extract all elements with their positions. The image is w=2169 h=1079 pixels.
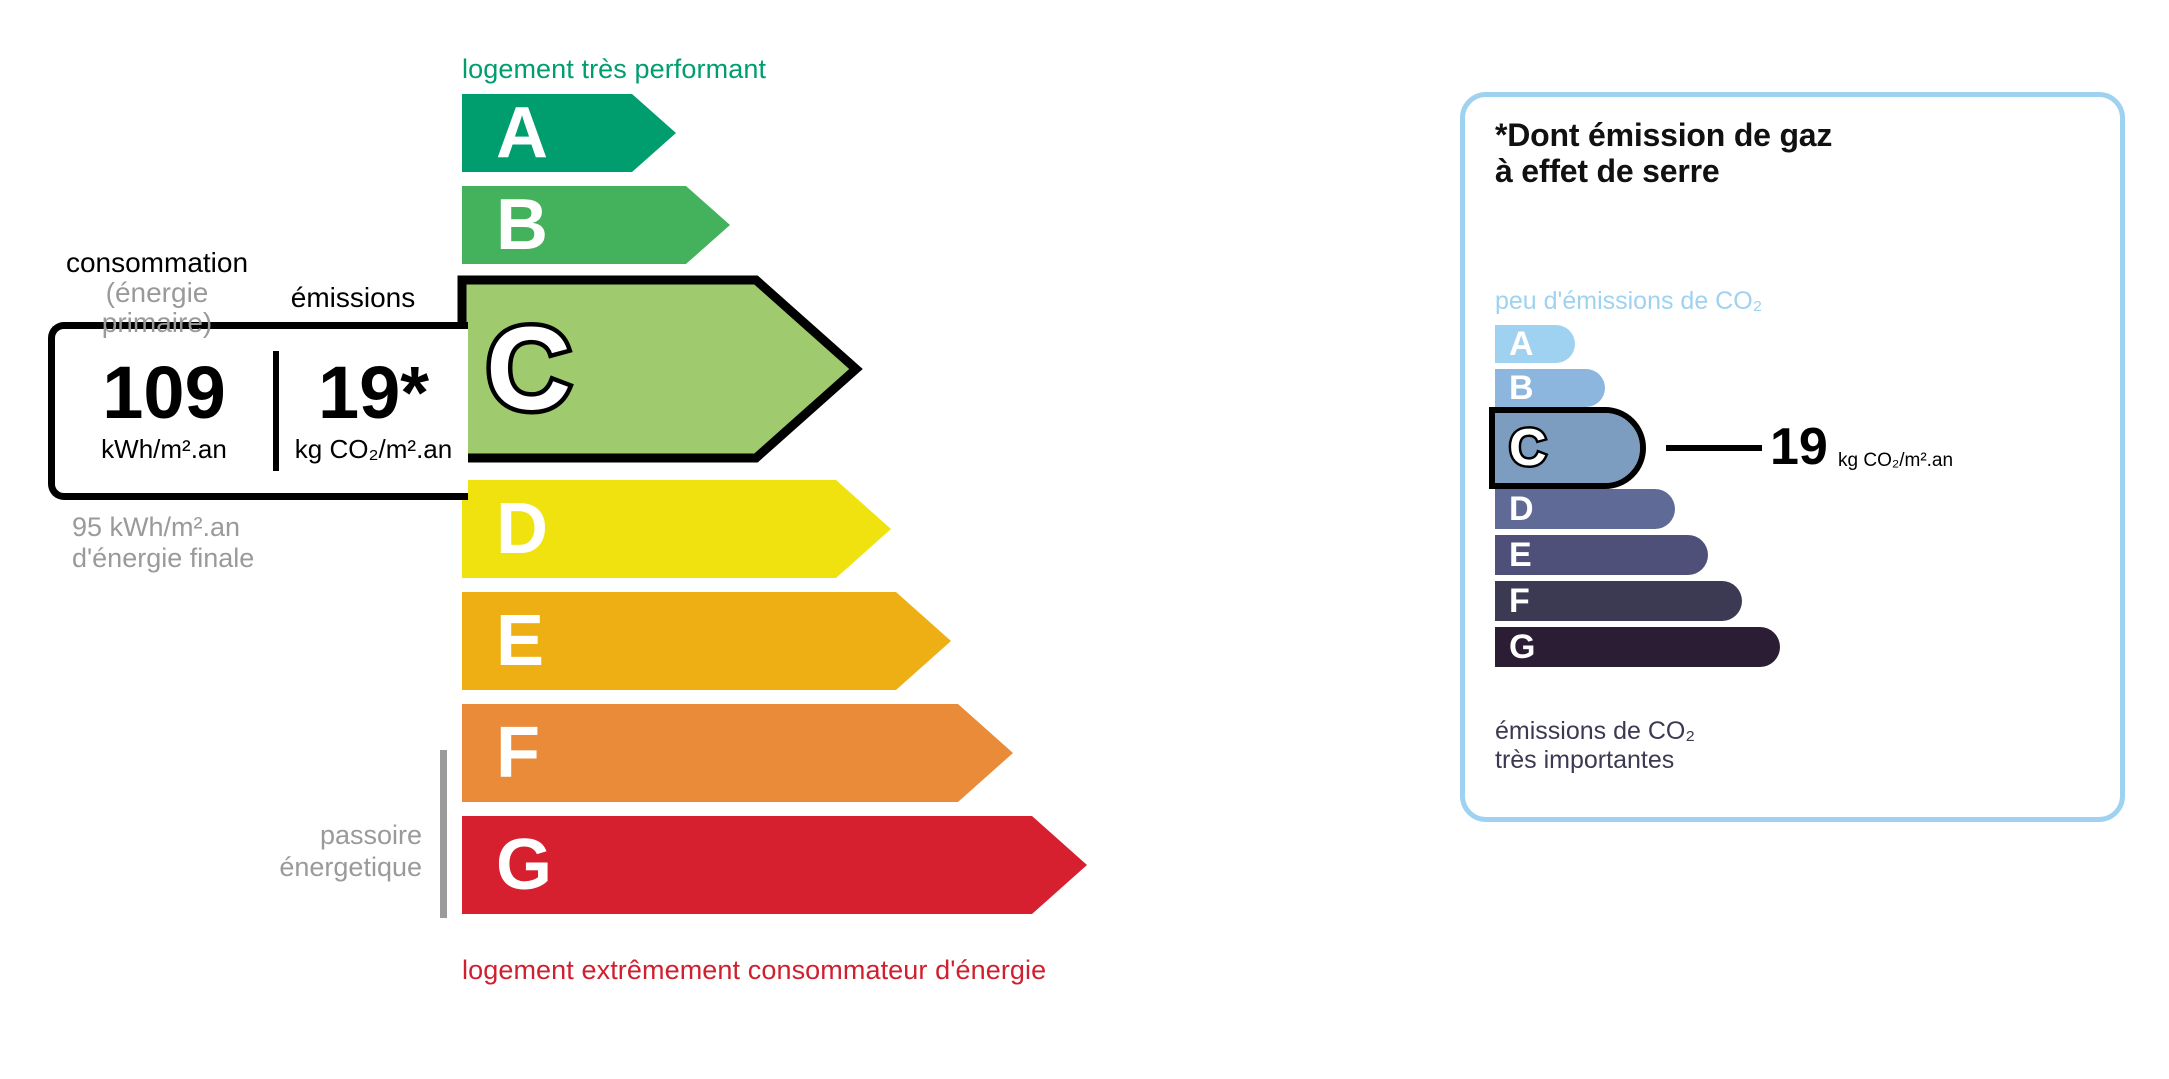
consumption-value: 109 [102, 357, 225, 428]
co2-bottom-line2: très importantes [1495, 746, 1674, 774]
consumption-header-sub: (énergie primaire) [48, 278, 266, 338]
co2-leader-line [1666, 445, 1762, 451]
energy-class-letter-d: D [496, 493, 548, 565]
co2-unit: kg CO₂/m².an [1838, 450, 1953, 472]
co2-class-letter-d: D [1509, 492, 1534, 526]
co2-title-line1: *Dont émission de gaz [1495, 117, 1832, 153]
passoire-line1: passoire [320, 820, 422, 850]
co2-panel: *Dont émission de gaz à effet de serre p… [1460, 92, 2125, 822]
co2-class-letter-a: A [1509, 327, 1534, 361]
co2-class-c: C [1495, 413, 1640, 483]
co2-class-f: F [1495, 581, 1742, 621]
passoire-label: passoire énergetique [210, 820, 422, 884]
energy-class-letter-b: B [496, 189, 548, 261]
co2-class-e: E [1495, 535, 1708, 575]
co2-value: 19 [1770, 421, 1828, 473]
co2-class-letter-g: G [1509, 630, 1535, 664]
energy-class-g: G [462, 816, 1087, 914]
consumption-unit: kWh/m².an [101, 434, 227, 465]
final-energy-note: 95 kWh/m².an d'énergie finale [72, 512, 402, 575]
energy-class-letter-a: A [496, 97, 548, 169]
co2-class-d: D [1495, 489, 1675, 529]
energy-class-letter-e: E [496, 605, 544, 677]
emission-unit: kg CO₂/m².an [295, 434, 452, 465]
consumption-header: consommation (énergie primaire) [48, 248, 266, 339]
co2-bar-f [1495, 581, 1742, 621]
energy-bottom-caption: logement extrêmement consommateur d'éner… [462, 955, 1046, 986]
emission-value-cell: 19* kg CO₂/m².an [279, 329, 468, 493]
energy-arrow-shape-a [455, 87, 683, 179]
co2-bottom-caption: émissions de CO₂ très importantes [1495, 717, 1695, 774]
co2-panel-title: *Dont émission de gaz à effet de serre [1495, 117, 1832, 190]
co2-class-g: G [1495, 627, 1780, 667]
co2-class-letter-e: E [1509, 538, 1532, 572]
co2-class-b: B [1495, 369, 1605, 407]
energy-scale-panel: logement très performant ABCDEFG 109 kWh… [0, 0, 1380, 1079]
co2-class-letter-b: B [1509, 371, 1534, 405]
energy-class-f: F [462, 704, 1013, 802]
consumption-value-cell: 109 kWh/m².an [55, 329, 273, 493]
emission-value: 19* [318, 357, 429, 428]
co2-title-line2: à effet de serre [1495, 153, 1719, 189]
co2-bar-a [1495, 325, 1575, 363]
energy-top-caption: logement très performant [462, 54, 766, 85]
energy-value-box: 109 kWh/m².an 19* kg CO₂/m².an [48, 322, 468, 500]
energy-class-d: D [462, 480, 891, 578]
consumption-header-main: consommation [66, 247, 248, 278]
energy-class-letter-g: G [496, 829, 552, 901]
energy-class-letter-c: C [486, 310, 571, 428]
energy-class-c: C [462, 280, 856, 458]
energy-class-a: A [462, 94, 676, 172]
final-energy-value: 95 kWh/m².an [72, 512, 240, 542]
passoire-line2: énergetique [279, 852, 422, 882]
co2-class-a: A [1495, 325, 1575, 363]
co2-bottom-line1: émissions de CO₂ [1495, 717, 1695, 745]
co2-bar-g [1495, 627, 1780, 667]
energy-class-e: E [462, 592, 951, 690]
emissions-header: émissions [268, 282, 438, 314]
co2-class-letter-c: C [1509, 422, 1547, 474]
co2-top-caption: peu d'émissions de CO₂ [1495, 287, 1762, 316]
final-energy-label: d'énergie finale [72, 543, 254, 573]
co2-class-letter-f: F [1509, 584, 1530, 618]
passoire-indicator-bar [440, 750, 447, 918]
energy-class-b: B [462, 186, 730, 264]
energy-class-letter-f: F [496, 717, 540, 789]
